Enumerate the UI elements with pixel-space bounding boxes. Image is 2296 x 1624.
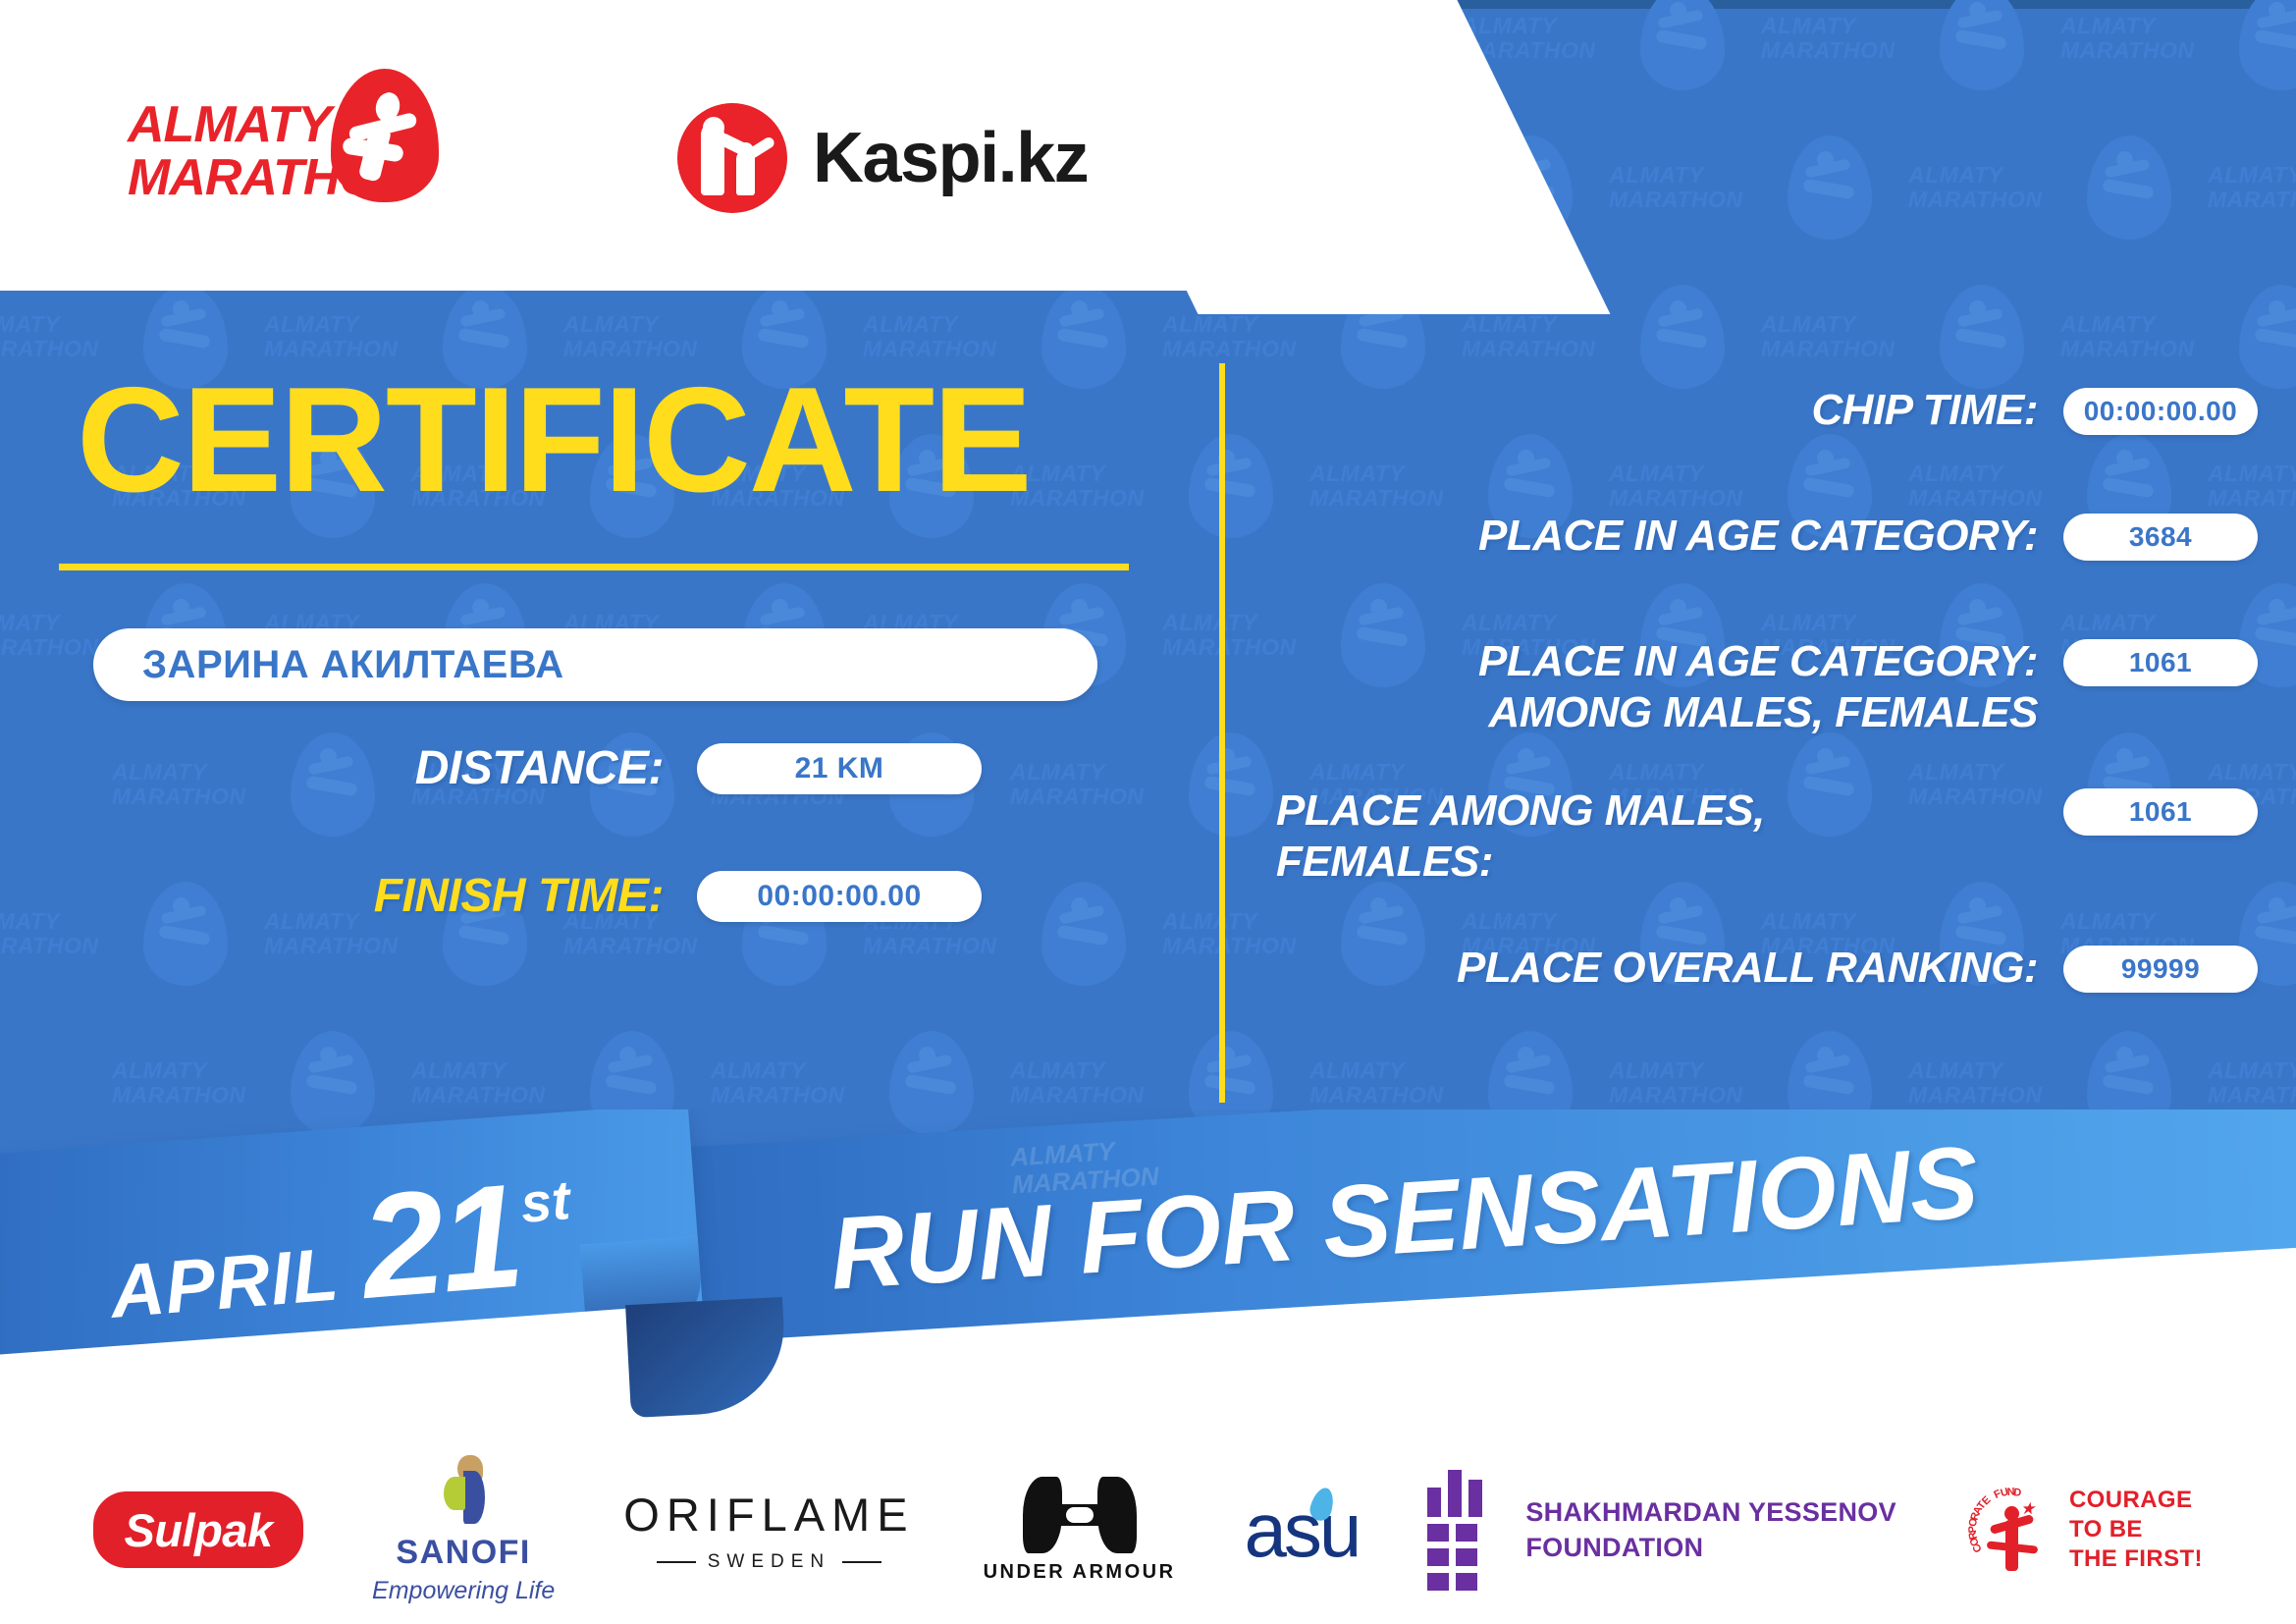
page-title: CERTIFICATE [77, 365, 1031, 514]
courage-icon: CORPORATEFUND ★ [1965, 1479, 2056, 1581]
watermark-text: ALMATYMARATHON [2208, 163, 2296, 212]
watermark-text: ALMATYMARATHON [1309, 1058, 1443, 1108]
sponsor-under-armour: UNDER ARMOUR [984, 1477, 1176, 1584]
sponsor-bar: Sulpak SANOFI Empowering Life ORIFLAME S… [0, 1435, 2296, 1624]
distance-row: DISTANCE: 21 KM [0, 741, 982, 795]
place-age-category-gender-label: PLACE IN AGE CATEGORY: AMONG MALES, FEMA… [1276, 636, 2063, 738]
place-among-gender-label: PLACE AMONG MALES, FEMALES: [1276, 785, 2063, 888]
sponsor-courage-fund: CORPORATEFUND ★ COURAGE TO BE THE FIRST! [1965, 1479, 2203, 1581]
watermark-text: ALMATYMARATHON [2208, 1058, 2296, 1108]
place-age-category-row: PLACE IN AGE CATEGORY: 3684 [1276, 511, 2258, 562]
place-overall-ranking-value: 99999 [2063, 946, 2258, 993]
watermark-text: ALMATYMARATHON [1609, 163, 1742, 212]
athlete-name-field: ЗАРИНА АКИЛТАЕВА [93, 628, 1097, 701]
watermark-text: ALMATYMARATHON [1609, 1058, 1742, 1108]
label-line-2: FEMALES: [1276, 837, 2038, 888]
place-among-gender-value: 1061 [2063, 788, 2258, 836]
athlete-name-value: ЗАРИНА АКИЛТАЕВА [93, 643, 564, 687]
chip-time-label: CHIP TIME: [1276, 385, 2063, 436]
sponsor-sulpak: Sulpak [93, 1491, 303, 1568]
watermark-text: ALMATYMARATHON [1761, 14, 1895, 63]
finish-time-label: FINISH TIME: [374, 869, 664, 923]
sponsor-yessenov-foundation: SHAKHMARDAN YESSENOV FOUNDATION [1427, 1470, 1896, 1591]
certificate-canvas: ALMATYMARATHONALMATYMARATHONALMATYMARATH… [0, 0, 2296, 1624]
watermark-tile: ALMATYMARATHON [1605, 130, 1899, 277]
oriflame-rule-right [842, 1561, 881, 1563]
chip-time-row: CHIP TIME: 00:00:00.00 [1276, 385, 2258, 436]
finish-time-value: 00:00:00.00 [697, 871, 982, 922]
yessenov-wordmark: SHAKHMARDAN YESSENOV FOUNDATION [1525, 1494, 1896, 1565]
oriflame-rule-left [657, 1561, 696, 1563]
event-day: 21 [356, 1166, 525, 1316]
courage-line-3: THE FIRST! [2069, 1544, 2203, 1574]
under-armour-icon [1023, 1477, 1137, 1553]
place-overall-ranking-label: PLACE OVERALL RANKING: [1276, 943, 2063, 994]
kaspi-wordmark: Kaspi.kz [813, 118, 1088, 198]
sanofi-tagline: Empowering Life [372, 1577, 555, 1605]
label-line-2: AMONG MALES, FEMALES [1276, 687, 2038, 738]
finish-time-row: FINISH TIME: 00:00:00.00 [0, 869, 982, 923]
watermark-runner-icon [1940, 0, 2024, 90]
sponsor-asu: asu [1245, 1486, 1360, 1575]
distance-value: 21 KM [697, 743, 982, 794]
yessenov-line-2: FOUNDATION [1525, 1530, 1896, 1565]
watermark-runner-icon [2239, 0, 2296, 90]
place-age-category-gender-value: 1061 [2063, 639, 2258, 686]
oriflame-country: SWEDEN [708, 1551, 830, 1573]
event-day-suffix: st [518, 1167, 572, 1235]
watermark-runner-icon [1940, 285, 2024, 389]
under-armour-wordmark: UNDER ARMOUR [984, 1561, 1176, 1584]
label-line-1: PLACE AMONG MALES, [1276, 785, 2038, 837]
yessenov-icon [1427, 1470, 1504, 1591]
watermark-runner-icon [1640, 285, 1725, 389]
column-divider [1219, 363, 1225, 1103]
sanofi-icon [436, 1455, 491, 1528]
runner-drop-icon [331, 69, 439, 202]
watermark-runner-icon [2087, 135, 2171, 240]
sulpak-logo: Sulpak [93, 1491, 303, 1568]
watermark-text: ALMATYMARATHON [1609, 461, 1742, 511]
place-age-category-value: 3684 [2063, 514, 2258, 561]
oriflame-sub: SWEDEN [657, 1551, 881, 1573]
watermark-runner-icon [2239, 285, 2296, 389]
chip-time-value: 00:00:00.00 [2063, 388, 2258, 435]
kaspi-logo: Kaspi.kz [677, 103, 1088, 213]
watermark-text: ALMATYMARATHON [1309, 461, 1443, 511]
watermark-text: ALMATYMARATHON [1462, 312, 1595, 361]
title-underline [59, 564, 1129, 570]
asu-wordmark: asu [1245, 1486, 1360, 1575]
oriflame-wordmark: ORIFLAME [623, 1488, 914, 1542]
watermark-tile: ALMATYMARATHON [1904, 130, 2199, 277]
watermark-text: ALMATYMARATHON [1908, 163, 2042, 212]
distance-label: DISTANCE: [415, 741, 664, 795]
courage-ring-letter: D [2013, 1487, 2022, 1499]
left-column: CERTIFICATE ЗАРИНА АКИЛТАЕВА DISTANCE: 2… [0, 324, 1207, 1090]
watermark-tile: ALMATYMARATHON [2056, 0, 2296, 128]
watermark-runner-icon [1640, 0, 1725, 90]
almaty-marathon-logo: ALMATY MARATHON [128, 71, 461, 208]
watermark-text: ALMATYMARATHON [1908, 461, 2042, 511]
watermark-text: ALMATYMARATHON [2060, 312, 2194, 361]
sanofi-wordmark: SANOFI [396, 1534, 530, 1572]
kaspi-family-icon [677, 103, 787, 213]
label-line-1: PLACE IN AGE CATEGORY: [1276, 636, 2038, 687]
watermark-tile: ALMATYMARATHON [2204, 130, 2296, 277]
place-age-category-gender-row: PLACE IN AGE CATEGORY: AMONG MALES, FEMA… [1276, 636, 2258, 738]
courage-figure-icon: ★ [1995, 1500, 2028, 1575]
courage-wordmark: COURAGE TO BE THE FIRST! [2069, 1486, 2203, 1574]
sponsor-sanofi: SANOFI Empowering Life [372, 1455, 555, 1605]
watermark-text: ALMATYMARATHON [1908, 1058, 2042, 1108]
courage-line-1: COURAGE [2069, 1486, 2203, 1515]
courage-line-2: TO BE [2069, 1515, 2203, 1544]
event-month: APRIL [107, 1231, 342, 1334]
place-age-category-label: PLACE IN AGE CATEGORY: [1276, 511, 2063, 562]
event-ribbon: ALMATY MARATHON APRIL 21 st RUN FOR SENS… [0, 1110, 2296, 1453]
watermark-text: ALMATYMARATHON [1761, 312, 1895, 361]
sponsor-oriflame: ORIFLAME SWEDEN [623, 1488, 914, 1573]
watermark-tile: ALMATYMARATHON [1757, 0, 2052, 128]
yessenov-line-1: SHAKHMARDAN YESSENOV [1525, 1494, 1896, 1530]
watermark-text: ALMATYMARATHON [2060, 14, 2194, 63]
watermark-runner-icon [1788, 135, 1872, 240]
place-overall-ranking-row: PLACE OVERALL RANKING: 99999 [1276, 943, 2258, 994]
place-among-gender-row: PLACE AMONG MALES, FEMALES: 1061 [1276, 785, 2258, 888]
watermark-text: ALMATYMARATHON [2208, 461, 2296, 511]
